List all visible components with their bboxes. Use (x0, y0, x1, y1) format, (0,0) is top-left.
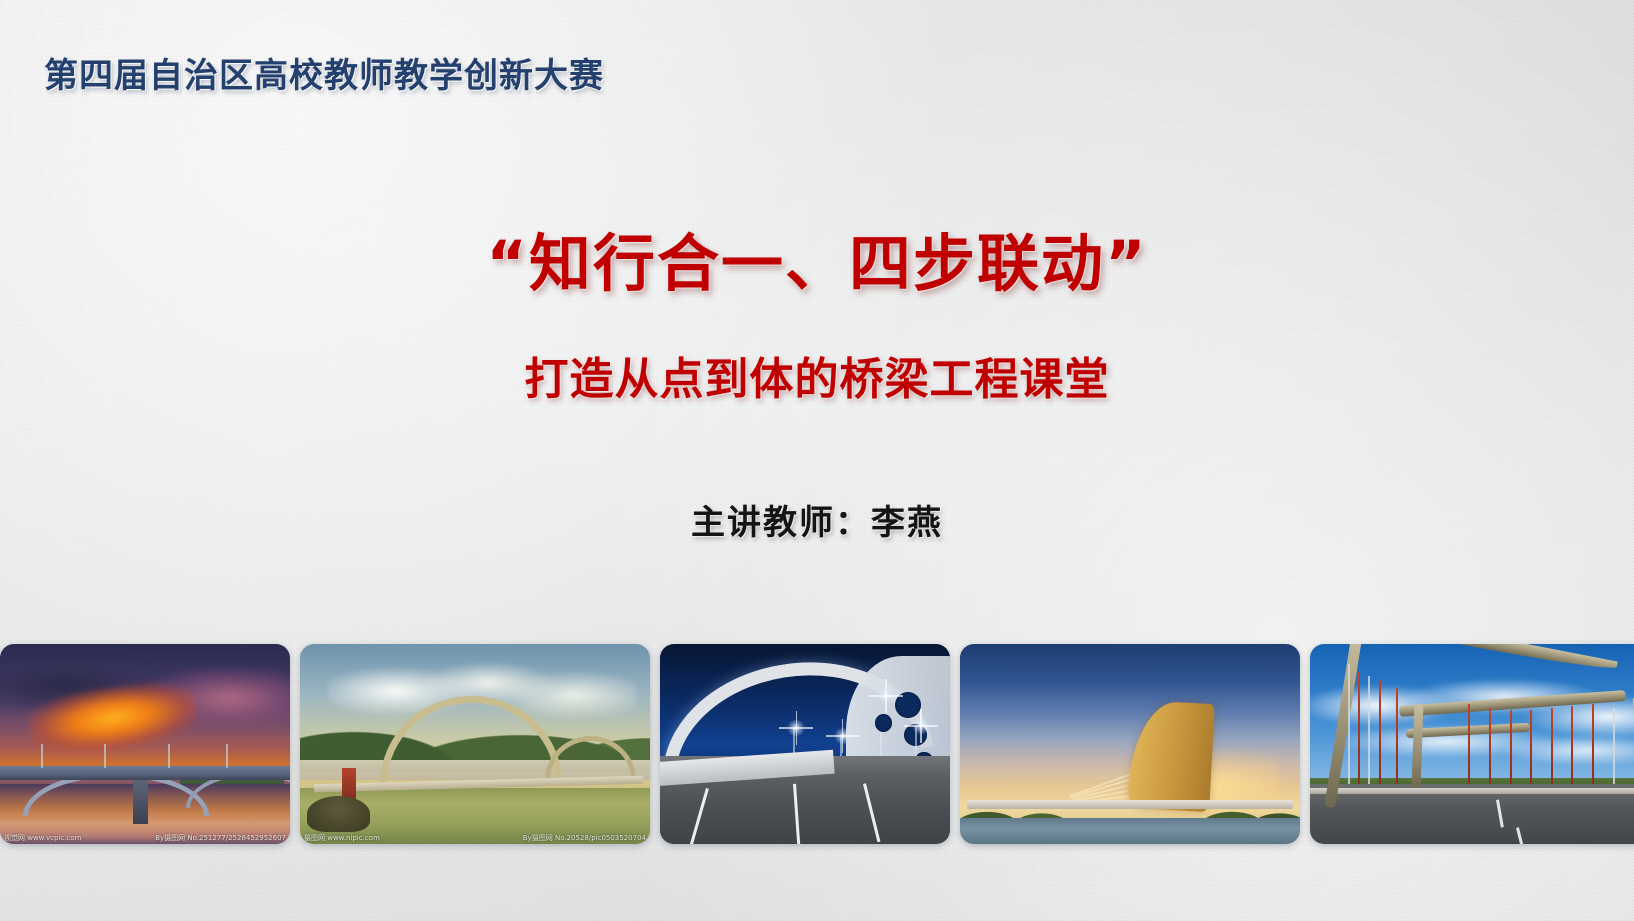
bridge-hanger (1468, 704, 1470, 784)
bridge-pier-red (342, 768, 356, 800)
bridge-hanger (1368, 676, 1370, 784)
bridge-hanger (1489, 708, 1491, 784)
bridge-hanger (1510, 710, 1512, 784)
competition-banner: 第四届自治区高校教师教学创新大赛 (44, 48, 604, 97)
bridge-hanger (1530, 710, 1532, 784)
bridge-hanger (1379, 680, 1381, 784)
bridge-hanger (1551, 708, 1553, 784)
slide-canvas: 第四届自治区高校教师教学创新大赛 “知行合一、四步联动” 打造从点到体的桥梁工程… (0, 0, 1634, 921)
page-title: “知行合一、四步联动” (0, 228, 1634, 299)
bridge-hanger (1358, 672, 1360, 784)
bridge-hanger (1571, 706, 1573, 784)
lamp-flare (912, 717, 930, 735)
bridge-deck (0, 766, 290, 780)
presenter-line: 主讲教师：李燕 (0, 495, 1634, 544)
bridge-hanger (1348, 664, 1350, 784)
lamp-flare (834, 727, 852, 745)
lamp-post (104, 744, 106, 768)
lamp-post (168, 744, 170, 768)
road-kerb (1310, 788, 1634, 794)
photo-night-white-arch-bridge-highway (660, 644, 950, 844)
lamp-post (41, 744, 43, 768)
bridge-pier (133, 780, 148, 824)
water-layer (960, 818, 1300, 844)
bridge-hanger (1613, 708, 1615, 784)
bridge-hanger (1592, 704, 1594, 784)
photo-sunset-arch-bridge-reflection: 视觉网 www.vcpic.com By摄图网 No.251277/252845… (0, 644, 290, 844)
photo-golden-arch-bridge-river-hills: 摄图网 www.nipic.com By摄图网 No.20528/pic0503… (300, 644, 650, 844)
page-subtitle: 打造从点到体的桥梁工程课堂 (0, 343, 1634, 407)
photo-strip: 视觉网 www.vcpic.com By摄图网 No.251277/252845… (0, 644, 1634, 844)
photo-through-arch-bridge-roadway-view (1310, 644, 1634, 844)
foreground-rock (307, 796, 370, 832)
bridge-hanger (1396, 688, 1398, 784)
pylon-opening (875, 714, 892, 732)
bridge-deck (967, 800, 1293, 809)
photo-golden-cable-stayed-bridge-dusk (960, 644, 1300, 844)
lamp-post (226, 744, 228, 768)
title-block: “知行合一、四步联动” 打造从点到体的桥梁工程课堂 主讲教师：李燕 (0, 228, 1634, 544)
